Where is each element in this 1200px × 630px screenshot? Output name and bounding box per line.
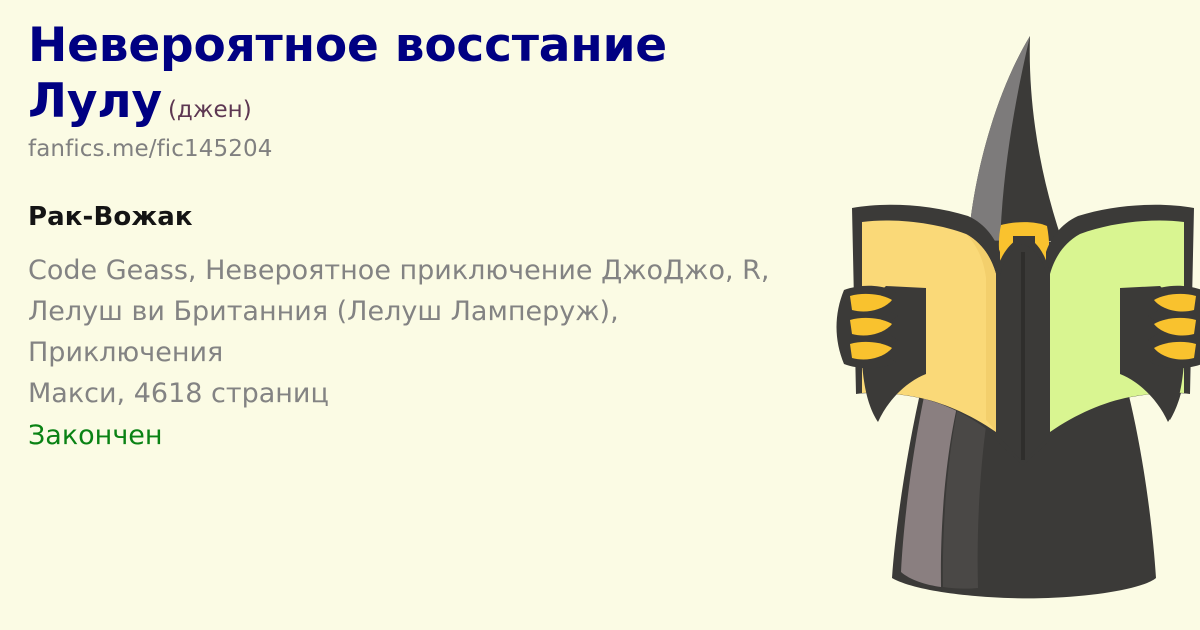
- work-metadata: Code Geass, Невероятное приключение ДжоД…: [28, 250, 803, 456]
- fanfic-preview-card: Невероятное восстание Лулу(джен) fanfics…: [0, 0, 1200, 630]
- metadata-line-fandoms: Code Geass, Невероятное приключение ДжоД…: [28, 250, 803, 373]
- author-name: Рак-Вожак: [28, 202, 818, 232]
- page-title: Невероятное восстание Лулу(джен): [28, 18, 798, 130]
- page-title-text: Невероятное восстание Лулу: [28, 18, 667, 129]
- status-badge: Закончен: [28, 415, 803, 456]
- category-tag: (джен): [162, 97, 252, 123]
- right-hand: [1120, 286, 1200, 422]
- text-column: Невероятное восстание Лулу(джен) fanfics…: [28, 18, 818, 456]
- left-hand: [837, 286, 927, 422]
- metadata-line-size: Макси, 4618 страниц: [28, 373, 803, 414]
- source-url: fanfics.me/fic145204: [28, 136, 818, 162]
- wizard-reading-book-illustration: [800, 0, 1200, 630]
